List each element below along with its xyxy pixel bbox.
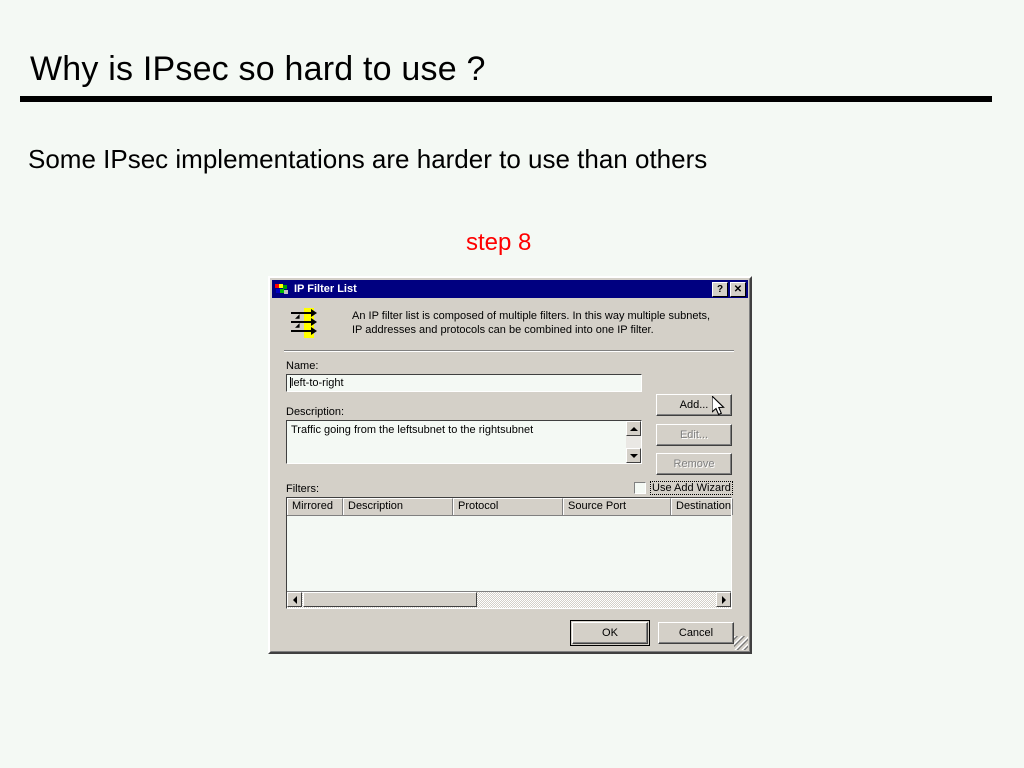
help-button[interactable]: ?	[712, 282, 728, 297]
step-label: step 8	[466, 229, 531, 257]
filters-list-body[interactable]	[287, 516, 731, 592]
column-header-description[interactable]: Description	[343, 498, 453, 515]
description-label: Description:	[286, 406, 344, 418]
scrollbar-track[interactable]	[626, 436, 641, 448]
description-value: Traffic going from the leftsubnet to the…	[291, 424, 533, 436]
checkbox-box[interactable]	[634, 482, 646, 494]
column-header-destination[interactable]: Destination	[671, 498, 733, 515]
cancel-button[interactable]: Cancel	[658, 622, 734, 644]
resize-grip[interactable]	[734, 636, 748, 650]
scroll-up-button[interactable]	[626, 421, 641, 436]
title-divider	[20, 96, 992, 102]
name-label: Name:	[286, 360, 318, 372]
use-add-wizard-checkbox[interactable]: Use Add Wizard	[634, 481, 733, 495]
name-input[interactable]: left-to-right	[286, 374, 642, 392]
description-textarea[interactable]: Traffic going from the leftsubnet to the…	[286, 420, 642, 464]
slide-subtitle: Some IPsec implementations are harder to…	[28, 144, 707, 175]
ok-button[interactable]: OK	[572, 622, 648, 644]
header-divider	[284, 350, 734, 352]
edit-button[interactable]: Edit...	[656, 424, 732, 446]
scroll-left-button[interactable]	[287, 592, 302, 607]
filters-horizontal-scrollbar[interactable]	[287, 591, 731, 608]
name-input-value: left-to-right	[291, 377, 344, 389]
ip-filter-list-icon	[274, 282, 290, 296]
dialog-header-text: An IP filter list is composed of multipl…	[352, 306, 722, 340]
description-vertical-scrollbar[interactable]	[626, 421, 641, 463]
filters-list-header: Mirrored Description Protocol Source Por…	[287, 498, 731, 516]
add-button[interactable]: Add...	[656, 394, 732, 416]
scroll-right-button[interactable]	[716, 592, 731, 607]
ip-filter-list-dialog: IP Filter List ? ✕ ◢ ◢ An IP filter list…	[268, 276, 752, 654]
dialog-header: ◢ ◢ An IP filter list is composed of mul…	[282, 306, 732, 340]
scroll-down-button[interactable]	[626, 448, 641, 463]
scrollbar-thumb[interactable]	[303, 592, 477, 607]
filters-label: Filters:	[286, 483, 319, 495]
column-header-protocol[interactable]: Protocol	[453, 498, 563, 515]
column-header-mirrored[interactable]: Mirrored	[287, 498, 343, 515]
filter-arrows-icon: ◢ ◢	[290, 308, 322, 340]
page-title: Why is IPsec so hard to use ?	[30, 50, 486, 89]
close-icon[interactable]: ✕	[730, 282, 746, 297]
dialog-titlebar[interactable]: IP Filter List ? ✕	[272, 280, 748, 298]
dialog-title: IP Filter List	[294, 283, 710, 295]
filters-list[interactable]: Mirrored Description Protocol Source Por…	[286, 497, 732, 609]
remove-button[interactable]: Remove	[656, 453, 732, 475]
use-add-wizard-label: Use Add Wizard	[650, 481, 733, 495]
column-header-source-port[interactable]: Source Port	[563, 498, 671, 515]
